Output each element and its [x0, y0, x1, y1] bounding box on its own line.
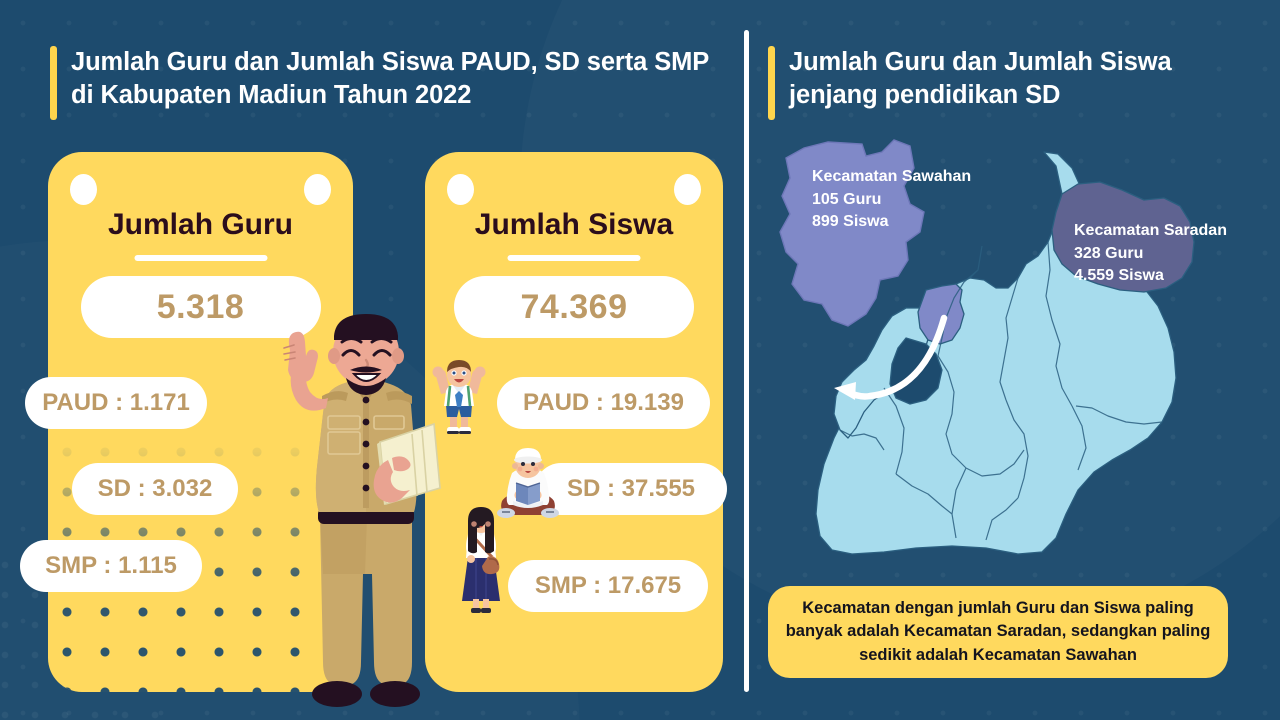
saradan-district-name: Kecamatan Saradan — [1074, 220, 1227, 243]
infographic-canvas: Jumlah Guru dan Jumlah Siswa PAUD, SD se… — [0, 0, 1280, 720]
siswa-smp-pill: SMP : 17.675 — [508, 560, 708, 612]
siswa-paud-pill: PAUD : 19.139 — [497, 377, 710, 429]
card-title-guru: Jumlah Guru — [48, 208, 353, 242]
card-punch-hole-left-icon — [70, 174, 97, 205]
card-underline-rule — [134, 255, 267, 261]
guru-smp-pill: SMP : 1.115 — [20, 540, 202, 592]
title-accent-bar-left — [50, 46, 57, 120]
panel-divider — [744, 30, 749, 692]
card-punch-hole-right-icon-siswa — [674, 174, 701, 205]
card-title-siswa: Jumlah Siswa — [425, 208, 723, 242]
map-annotation-sawahan: Kecamatan Sawahan 105 Guru 899 Siswa — [812, 166, 971, 234]
map-summary-caption: Kecamatan dengan jumlah Guru dan Siswa p… — [768, 586, 1228, 678]
madiun-regency-map: Kecamatan Sawahan 105 Guru 899 Siswa Kec… — [756, 138, 1260, 568]
saradan-teachers: 328 Guru — [1074, 243, 1227, 266]
girl-student-illustration — [450, 505, 512, 615]
sawahan-students: 899 Siswa — [812, 211, 971, 234]
card-punch-hole-left-icon-siswa — [447, 174, 474, 205]
guru-sd-pill: SD : 3.032 — [72, 463, 238, 515]
left-panel-title: Jumlah Guru dan Jumlah Siswa PAUD, SD se… — [50, 46, 730, 120]
sawahan-teachers: 105 Guru — [812, 189, 971, 212]
title-accent-bar-right — [768, 46, 775, 120]
guru-paud-pill: PAUD : 1.171 — [25, 377, 207, 429]
left-panel-title-text: Jumlah Guru dan Jumlah Siswa PAUD, SD se… — [71, 46, 730, 112]
sawahan-district-name: Kecamatan Sawahan — [812, 166, 971, 189]
card-punch-hole-right-icon — [304, 174, 331, 205]
card-total-siswa: 74.369 — [454, 276, 694, 338]
boy-student-cheering-illustration — [428, 358, 490, 436]
right-panel-title-text: Jumlah Guru dan Jumlah Siswa jenjang pen… — [789, 46, 1238, 112]
right-panel-title: Jumlah Guru dan Jumlah Siswa jenjang pen… — [768, 46, 1238, 120]
saradan-students: 4.559 Siswa — [1074, 265, 1227, 288]
map-annotation-saradan: Kecamatan Saradan 328 Guru 4.559 Siswa — [1074, 220, 1227, 288]
card-underline-rule-siswa — [508, 255, 641, 261]
